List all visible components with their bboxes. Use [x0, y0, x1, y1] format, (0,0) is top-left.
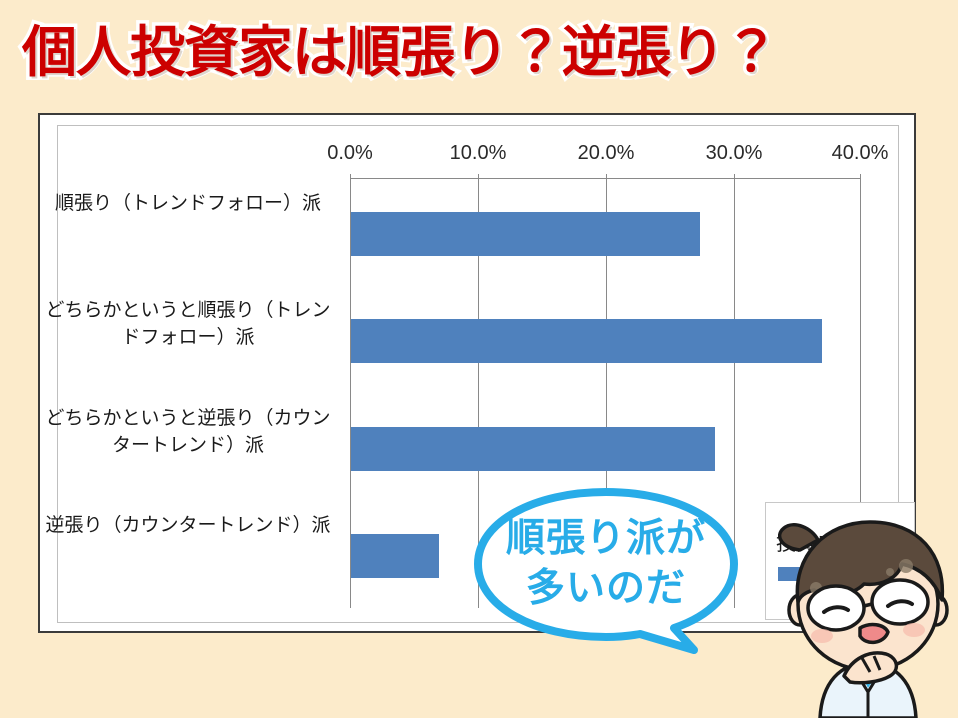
category-label-1: どちらかというと順張り（トレンドフォロー）派 — [38, 297, 338, 351]
tick-mark-3 — [734, 174, 735, 179]
speech-bubble-text: 順張り派が 多いのだ — [472, 514, 740, 614]
bar-row-0 — [350, 212, 861, 256]
mascot-character — [778, 506, 958, 718]
tick-label-3: 30.0% — [706, 142, 763, 165]
tick-label-1: 10.0% — [450, 142, 507, 165]
tick-mark-2 — [606, 174, 607, 179]
bar-0[interactable] — [351, 212, 700, 256]
bar-2[interactable] — [351, 427, 715, 471]
speech-bubble: 順張り派が 多いのだ — [472, 488, 772, 654]
tick-mark-1 — [478, 174, 479, 179]
title-region: 個人投資家は順張り？逆張り？ — [0, 14, 958, 92]
tick-mark-0 — [350, 174, 351, 179]
tick-label-4: 40.0% — [832, 142, 889, 165]
category-label-2: どちらかというと逆張り（カウンタートレンド）派 — [38, 405, 338, 459]
bar-1[interactable] — [351, 319, 822, 363]
slide-canvas: 個人投資家は順張り？逆張り？ 順張り（トレンドフォロー）派 どちらかというと順張… — [0, 0, 958, 718]
page-title: 個人投資家は順張り？逆張り？ — [22, 14, 778, 90]
speech-bubble-line-2: 多いのだ — [472, 564, 740, 614]
tick-mark-4 — [860, 174, 861, 179]
category-axis-labels: 順張り（トレンドフォロー）派 どちらかというと順張り（トレンドフォロー）派 どち… — [58, 178, 350, 608]
bar-row-2 — [350, 427, 861, 471]
category-label-0: 順張り（トレンドフォロー）派 — [38, 190, 338, 217]
speech-bubble-line-1: 順張り派が — [472, 514, 740, 564]
tick-label-2: 20.0% — [578, 142, 635, 165]
tick-label-0: 0.0% — [327, 142, 373, 165]
bar-3[interactable] — [351, 534, 439, 578]
bar-row-1 — [350, 319, 861, 363]
category-label-3: 逆張り（カウンタートレンド）派 — [38, 512, 338, 539]
mascot-illustration — [778, 506, 958, 718]
